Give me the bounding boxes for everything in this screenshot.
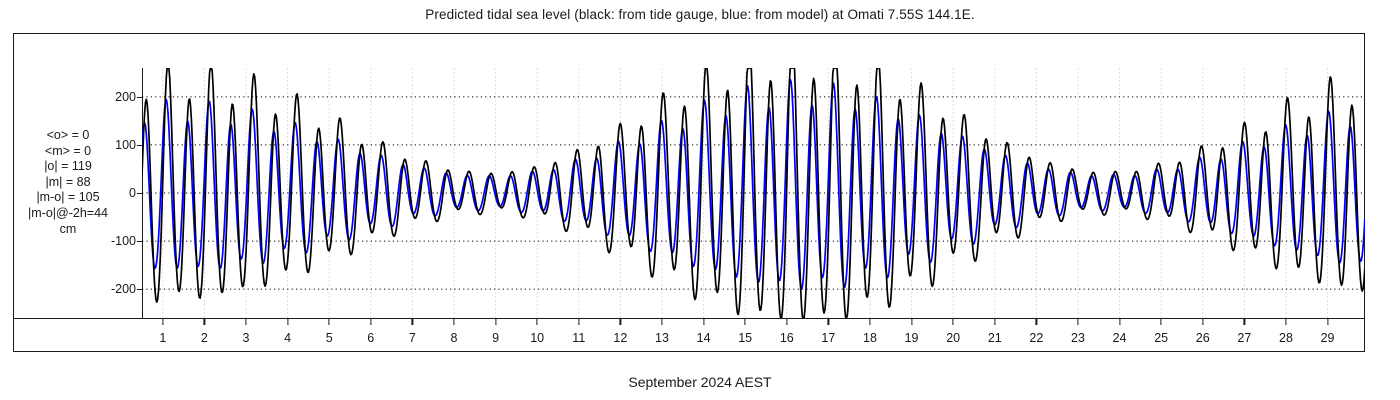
x-tick-mark — [1036, 318, 1037, 325]
x-tick-mark — [370, 318, 371, 325]
x-tick-mark — [162, 318, 163, 325]
x-tick-mark — [1327, 318, 1328, 325]
x-tick-mark — [1202, 318, 1203, 325]
y-tick-label: 0 — [96, 186, 136, 200]
x-tick-label: 17 — [821, 331, 835, 345]
y-tick-label: -200 — [96, 282, 136, 296]
x-tick-mark — [703, 318, 704, 325]
x-tick-label: 3 — [243, 331, 250, 345]
x-tick-label: 6 — [367, 331, 374, 345]
x-tick-mark — [204, 318, 205, 325]
x-tick-label: 5 — [326, 331, 333, 345]
x-tick-label: 18 — [863, 331, 877, 345]
x-tick-label: 19 — [905, 331, 919, 345]
x-tick-label: 22 — [1029, 331, 1043, 345]
y-tick-mark — [137, 289, 142, 290]
x-tick-label: 14 — [697, 331, 711, 345]
x-tick-label: 13 — [655, 331, 669, 345]
y-tick-mark — [137, 193, 142, 194]
x-tick-mark — [245, 318, 246, 325]
x-tick-label: 26 — [1196, 331, 1210, 345]
x-tick-label: 24 — [1113, 331, 1127, 345]
x-tick-mark — [911, 318, 912, 325]
x-tick-mark — [578, 318, 579, 325]
y-tick-mark — [137, 241, 142, 242]
tidal-curves-svg — [142, 68, 1365, 318]
x-tick-mark — [1077, 318, 1078, 325]
x-tick-label: 16 — [780, 331, 794, 345]
x-tick-mark — [412, 318, 413, 325]
stat-absmean-observed: |o| = 119 — [2, 159, 134, 175]
x-tick-label: 25 — [1154, 331, 1168, 345]
x-tick-mark — [661, 318, 662, 325]
x-axis-label: September 2024 AEST — [0, 374, 1400, 390]
x-tick-label: 20 — [946, 331, 960, 345]
x-tick-mark — [329, 318, 330, 325]
x-tick-label: 9 — [492, 331, 499, 345]
x-tick-label: 10 — [530, 331, 544, 345]
tidal-sea-level-figure: Predicted tidal sea level (black: from t… — [0, 0, 1400, 400]
x-tick-label: 21 — [988, 331, 1002, 345]
x-tick-mark — [495, 318, 496, 325]
y-tick-mark — [137, 145, 142, 146]
x-tick-label: 2 — [201, 331, 208, 345]
y-tick-mark — [137, 97, 142, 98]
x-tick-label: 4 — [284, 331, 291, 345]
x-tick-mark — [786, 318, 787, 325]
x-tick-label: 29 — [1321, 331, 1335, 345]
x-tick-label: 1 — [159, 331, 166, 345]
chart-title: Predicted tidal sea level (black: from t… — [0, 7, 1400, 22]
x-tick-label: 27 — [1237, 331, 1251, 345]
x-tick-label: 23 — [1071, 331, 1085, 345]
x-tick-mark — [1285, 318, 1286, 325]
x-tick-label: 12 — [613, 331, 627, 345]
y-tick-label: 200 — [96, 90, 136, 104]
x-tick-label: 28 — [1279, 331, 1293, 345]
x-tick-mark — [287, 318, 288, 325]
x-tick-mark — [953, 318, 954, 325]
x-tick-mark — [1119, 318, 1120, 325]
x-tick-mark — [537, 318, 538, 325]
y-tick-label: 100 — [96, 138, 136, 152]
x-tick-label: 15 — [738, 331, 752, 345]
x-tick-mark — [828, 318, 829, 325]
y-tick-label: -100 — [96, 234, 136, 248]
x-tick-label: 7 — [409, 331, 416, 345]
x-tick-mark — [1161, 318, 1162, 325]
stat-absmean-difference-shifted: |m-o|@-2h=44 — [2, 206, 134, 222]
x-tick-mark — [1244, 318, 1245, 325]
x-tick-mark — [453, 318, 454, 325]
plot-area — [142, 68, 1365, 318]
x-tick-mark — [620, 318, 621, 325]
x-tick-label: 8 — [451, 331, 458, 345]
x-tick-mark — [869, 318, 870, 325]
x-tick-mark — [994, 318, 995, 325]
x-tick-mark — [745, 318, 746, 325]
x-tick-label: 11 — [572, 331, 585, 345]
